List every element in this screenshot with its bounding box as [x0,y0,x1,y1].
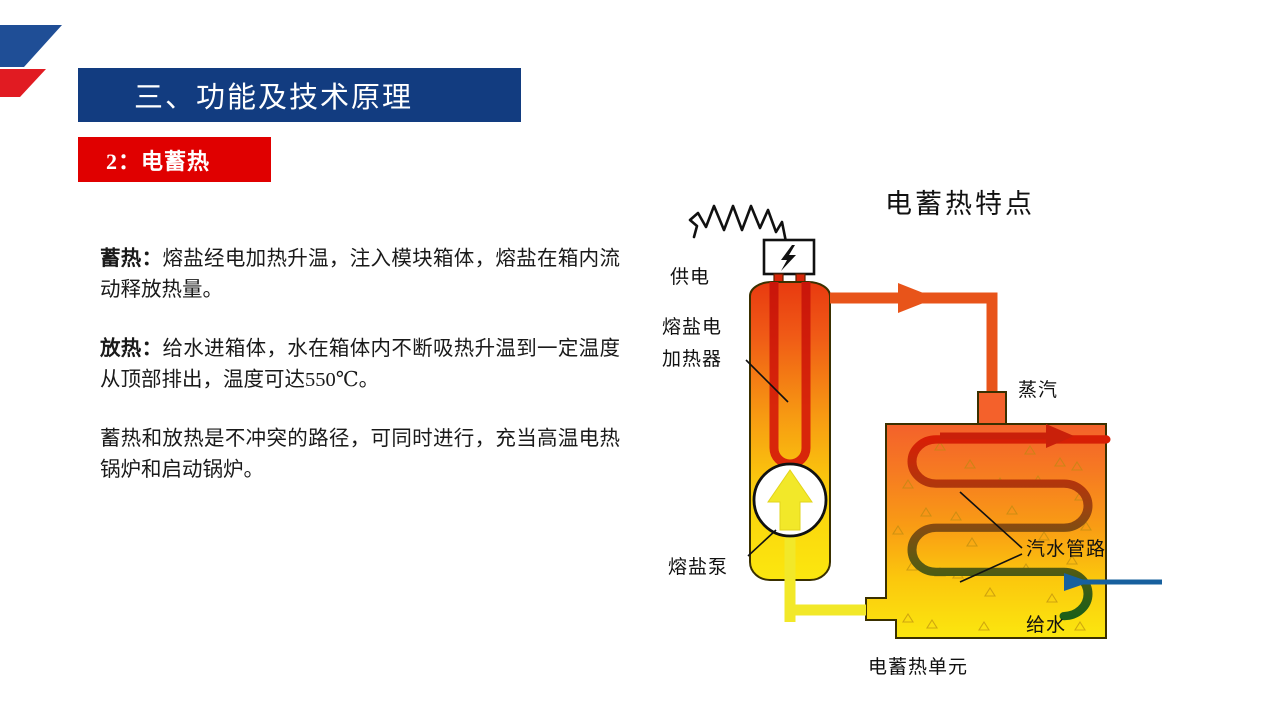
thermal-storage-diagram: 电蓄热特点 [640,170,1280,700]
body-copy: 蓄热：熔盐经电加热升温，注入模块箱体，熔盐在箱内流动释放热量。 放热：给水进箱体… [100,244,620,514]
section-title-text: 三、功能及技术原理 [78,74,413,116]
label-steam: 蒸汽 [1018,375,1058,402]
label-salt-pump: 熔盐泵 [668,552,728,579]
label-steam-water-pipe: 汽水管路 [1026,534,1106,561]
thermal-storage-tank [866,424,1106,638]
paragraph-2-lead: 放热： [100,338,162,360]
logo-red-shape [0,69,46,97]
label-feed-water: 给水 [1026,610,1066,637]
molten-salt-pump-icon [754,464,826,536]
corner-logo [0,25,72,97]
label-heater-line1: 熔盐电 [662,312,722,339]
paragraph-1-lead: 蓄热： [100,248,162,270]
hot-salt-pipe [830,283,992,408]
tank-inlet-stub [978,392,1006,426]
electric-box-icon [764,240,814,274]
label-storage-unit: 电蓄热单元 [868,652,968,679]
paragraph-1-text: 熔盐经电加热升温，注入模块箱体，熔盐在箱内流动释放热量。 [100,248,620,301]
slide-root: 三、功能及技术原理 2：电蓄热 蓄热：熔盐经电加热升温，注入模块箱体，熔盐在箱内… [0,0,1280,720]
paragraph-3: 蓄热和放热是不冲突的路径，可同时进行，充当高温电热锅炉和启动锅炉。 [100,424,620,486]
paragraph-2: 放热：给水进箱体，水在箱体内不断吸热升温到一定温度从顶部排出，温度可达550℃。 [100,334,620,396]
hot-salt-flow-arrow [898,283,936,313]
paragraph-1: 蓄热：熔盐经电加热升温，注入模块箱体，熔盐在箱内流动释放热量。 [100,244,620,306]
sub-title-text: 2：电蓄热 [78,144,210,176]
logo-blue-shape [0,25,62,67]
diagram-canvas [640,170,1280,700]
label-heater-line2: 加热器 [662,344,722,371]
label-power-supply: 供电 [670,262,710,289]
power-line-icon [690,206,786,242]
sub-title-bar: 2：电蓄热 [78,137,271,182]
paragraph-2-text: 给水进箱体，水在箱体内不断吸热升温到一定温度从顶部排出，温度可达550℃。 [100,338,620,391]
paragraph-3-text: 蓄热和放热是不冲突的路径，可同时进行，充当高温电热锅炉和启动锅炉。 [100,428,620,481]
section-title-bar: 三、功能及技术原理 [78,68,521,122]
